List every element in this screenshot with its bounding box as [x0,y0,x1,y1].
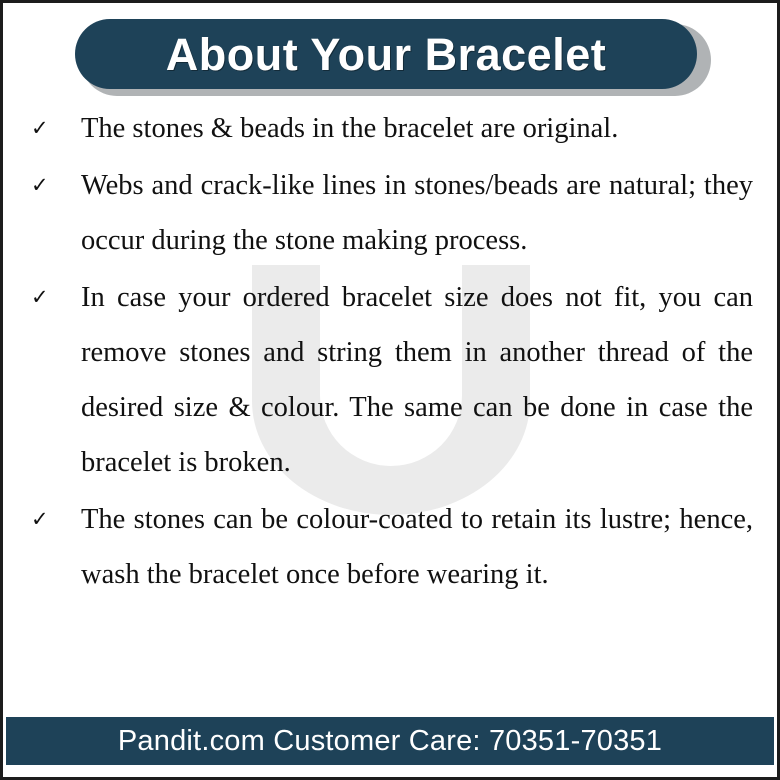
about-your-bracelet-card: About Your Bracelet ✓ The stones & beads… [0,0,780,780]
customer-care-text: Pandit.com Customer Care: 70351-70351 [118,725,662,758]
list-item: ✓ In case your ordered bracelet size doe… [3,270,777,490]
check-icon: ✓ [3,270,81,325]
check-icon: ✓ [3,492,81,547]
list-item-text: In case your ordered bracelet size does … [81,270,777,490]
bullet-list: ✓ The stones & beads in the bracelet are… [3,101,777,604]
check-icon: ✓ [3,101,81,156]
list-item-text: Webs and crack-like lines in stones/bead… [81,158,777,268]
header-banner: About Your Bracelet [3,17,777,95]
header-pill-body: About Your Bracelet [75,19,697,89]
list-item: ✓ The stones can be colour-coated to ret… [3,492,777,602]
footer-bar: Pandit.com Customer Care: 70351-70351 [6,717,774,765]
header-pill: About Your Bracelet [75,19,705,93]
list-item: ✓ The stones & beads in the bracelet are… [3,101,777,156]
list-item: ✓ Webs and crack-like lines in stones/be… [3,158,777,268]
list-item-text: The stones can be colour-coated to retai… [81,492,777,602]
list-item-text: The stones & beads in the bracelet are o… [81,101,777,156]
check-icon: ✓ [3,158,81,213]
page-title: About Your Bracelet [166,32,606,77]
